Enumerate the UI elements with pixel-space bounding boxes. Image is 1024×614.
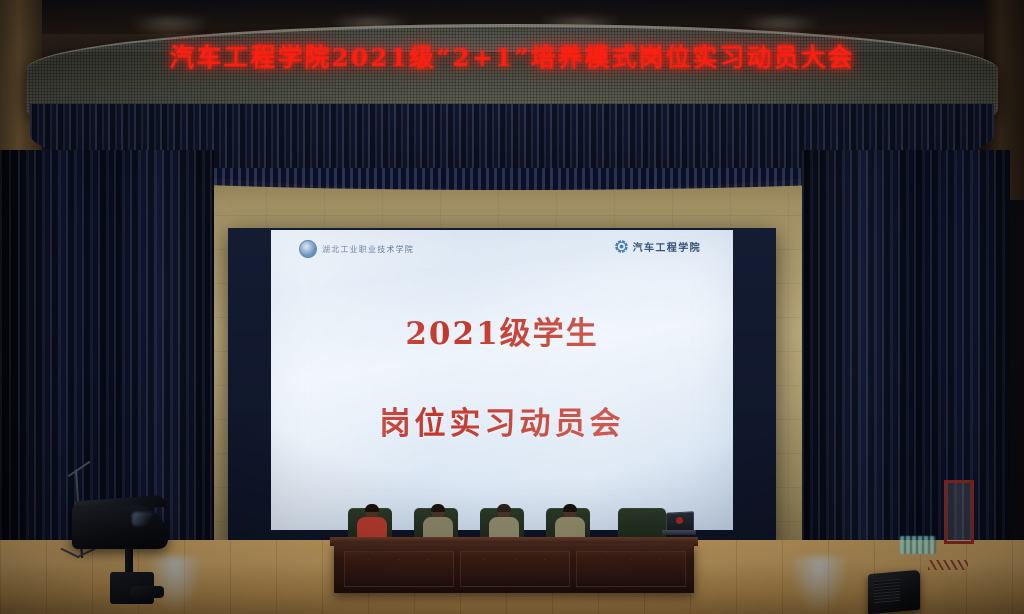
person-hair — [365, 504, 379, 512]
laptop-base — [662, 530, 696, 535]
slide-title-line-1: 2021级学生 — [271, 308, 733, 353]
person-hair — [431, 504, 445, 512]
table-panel — [460, 551, 570, 587]
floor-light-reflection — [148, 556, 202, 614]
stage-cables — [928, 560, 968, 570]
laptop-logo-icon — [676, 517, 683, 524]
head-table — [334, 543, 694, 593]
slide-logo-left: 湖北工业职业技术学院 — [299, 240, 414, 258]
slide-logo-right: 汽车工程学院 — [614, 239, 701, 254]
curtain-right — [802, 150, 1010, 594]
gear-icon — [614, 239, 629, 254]
led-banner-text: 汽车工程学院2021级“2+1”培养模式岗位实习动员大会 — [0, 38, 1024, 74]
table-panel — [576, 551, 686, 587]
automotive-college-label: 汽车工程学院 — [633, 239, 701, 254]
projection-screen: 湖北工业职业技术学院 — [271, 230, 733, 530]
school-seal-icon — [299, 240, 317, 258]
piano-highlight — [132, 512, 154, 526]
microphone-tripod — [62, 552, 98, 566]
person-hair — [563, 504, 577, 512]
floor-microphone — [130, 586, 164, 598]
slide-title-line-2: 岗位实习动员会 — [271, 398, 733, 443]
auditorium-scene: 汽车工程学院2021级“2+1”培养模式岗位实习动员大会 湖北工业职业技术学院 — [0, 0, 1024, 614]
red-framed-panel — [944, 480, 974, 544]
floor-light-reflection — [790, 556, 848, 614]
school-seal-label: 湖北工业职业技术学院 — [322, 244, 414, 255]
table-panel — [344, 551, 454, 587]
speaker-grill — [874, 579, 900, 603]
grand-piano — [72, 505, 168, 549]
water-bottles — [900, 536, 936, 554]
person-hair — [497, 504, 511, 512]
